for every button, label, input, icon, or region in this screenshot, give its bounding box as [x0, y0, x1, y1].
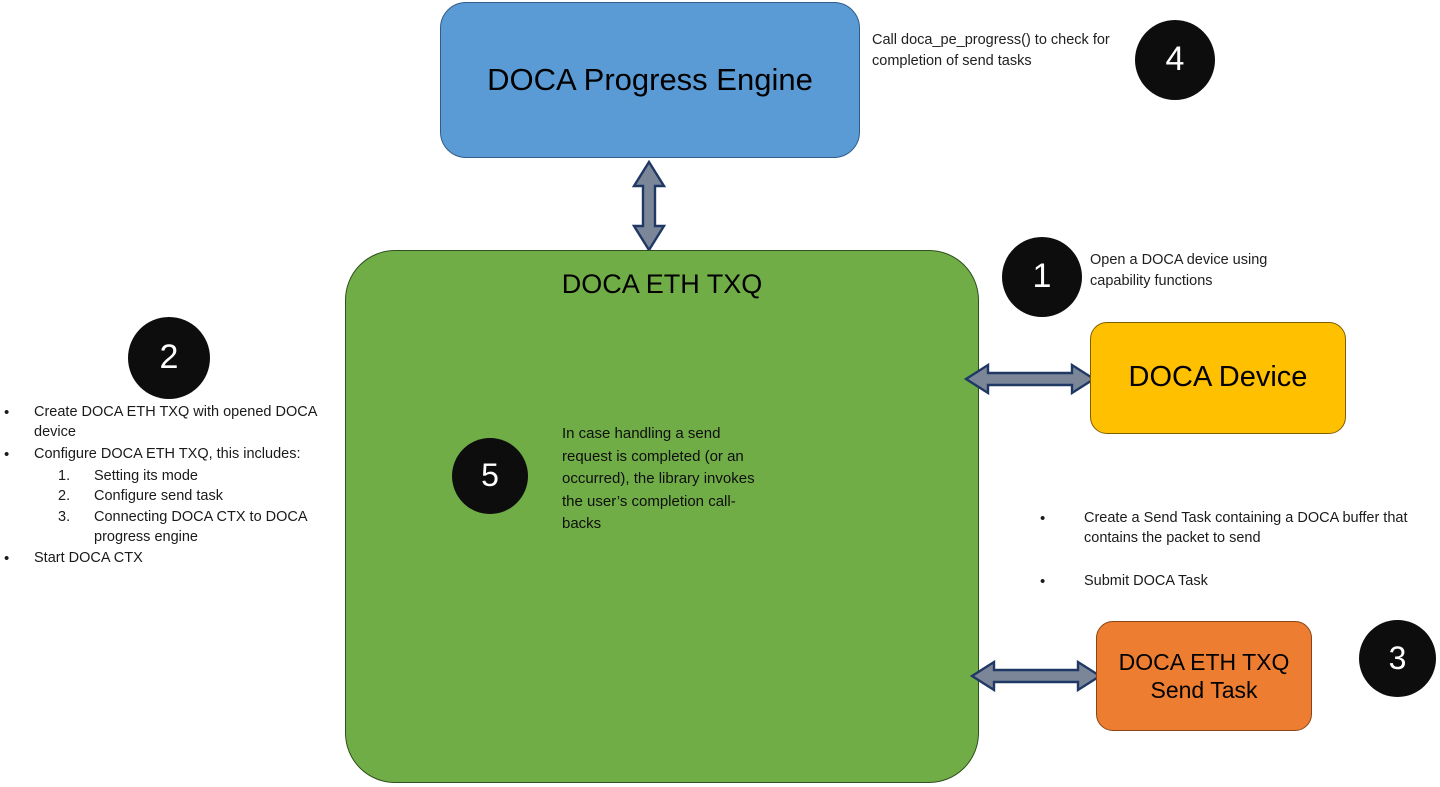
- note-doca-device: Open a DOCA device using capability func…: [1090, 250, 1320, 291]
- doca-device-box: DOCA Device: [1090, 322, 1346, 434]
- send-task-label-line1: DOCA ETH TXQ: [1119, 649, 1290, 675]
- send-task-label-line2: Send Task: [1151, 677, 1258, 703]
- doca-device-label: DOCA Device: [1129, 361, 1308, 394]
- right-bullet-list: • Create a Send Task containing a DOCA b…: [1040, 508, 1430, 614]
- bullet-glyph: •: [4, 402, 34, 423]
- note-progress-engine: Call doca_pe_progress() to check for com…: [872, 30, 1132, 71]
- doca-eth-txq-send-task-box: DOCA ETH TXQ Send Task: [1096, 621, 1312, 731]
- horizontal-double-arrow-txq-to-send-task: [970, 655, 1102, 697]
- list-item: • Create a Send Task containing a DOCA b…: [1040, 508, 1430, 549]
- bullet-glyph: •: [4, 444, 34, 465]
- list-item: • Submit DOCA Task: [1040, 571, 1430, 592]
- sub-list-item: 1. Setting its mode: [58, 466, 354, 487]
- sub-list-item: 3. Connecting DOCA CTX to DOCA progress …: [58, 507, 354, 548]
- left-bullet-list: • Create DOCA ETH TXQ with opened DOCA d…: [4, 402, 354, 570]
- sub-list-number: 3.: [58, 507, 94, 528]
- list-item: • Configure DOCA ETH TXQ, this includes:: [4, 444, 354, 465]
- doca-progress-engine-label: DOCA Progress Engine: [487, 62, 813, 98]
- sub-list-item-label: Setting its mode: [94, 466, 354, 487]
- horizontal-double-arrow-txq-to-device: [964, 358, 1096, 400]
- doca-progress-engine-box: DOCA Progress Engine: [440, 2, 860, 158]
- sub-list-number: 1.: [58, 466, 94, 487]
- list-item-label: Create a Send Task containing a DOCA buf…: [1084, 508, 1430, 549]
- diagram-canvas: DOCA Progress Engine Call doca_pe_progre…: [0, 0, 1440, 787]
- step-badge-3: 3: [1359, 620, 1436, 697]
- note-completion-callbacks: In case handling a send request is compl…: [562, 423, 762, 536]
- sub-list-number: 2.: [58, 486, 94, 507]
- list-item-label: Start DOCA CTX: [34, 548, 354, 568]
- bullet-glyph: •: [1040, 508, 1084, 529]
- list-item: • Start DOCA CTX: [4, 548, 354, 569]
- bullet-glyph: •: [4, 548, 34, 569]
- step-badge-4: 4: [1135, 20, 1215, 100]
- step-badge-1: 1: [1002, 237, 1082, 317]
- list-item-label: Create DOCA ETH TXQ with opened DOCA dev…: [34, 402, 354, 443]
- list-item-label: Submit DOCA Task: [1084, 571, 1430, 591]
- step-badge-5: 5: [452, 438, 528, 514]
- list-item-label: Configure DOCA ETH TXQ, this includes:: [34, 444, 354, 464]
- step-badge-2: 2: [128, 317, 210, 399]
- vertical-double-arrow-pe-to-txq: [622, 160, 676, 252]
- bullet-glyph: •: [1040, 571, 1084, 592]
- doca-eth-txq-label: DOCA ETH TXQ: [562, 269, 763, 300]
- sub-list-item-label: Connecting DOCA CTX to DOCA progress eng…: [94, 507, 354, 548]
- sub-list-item-label: Configure send task: [94, 486, 354, 507]
- list-item: • Create DOCA ETH TXQ with opened DOCA d…: [4, 402, 354, 443]
- sub-list-item: 2. Configure send task: [58, 486, 354, 507]
